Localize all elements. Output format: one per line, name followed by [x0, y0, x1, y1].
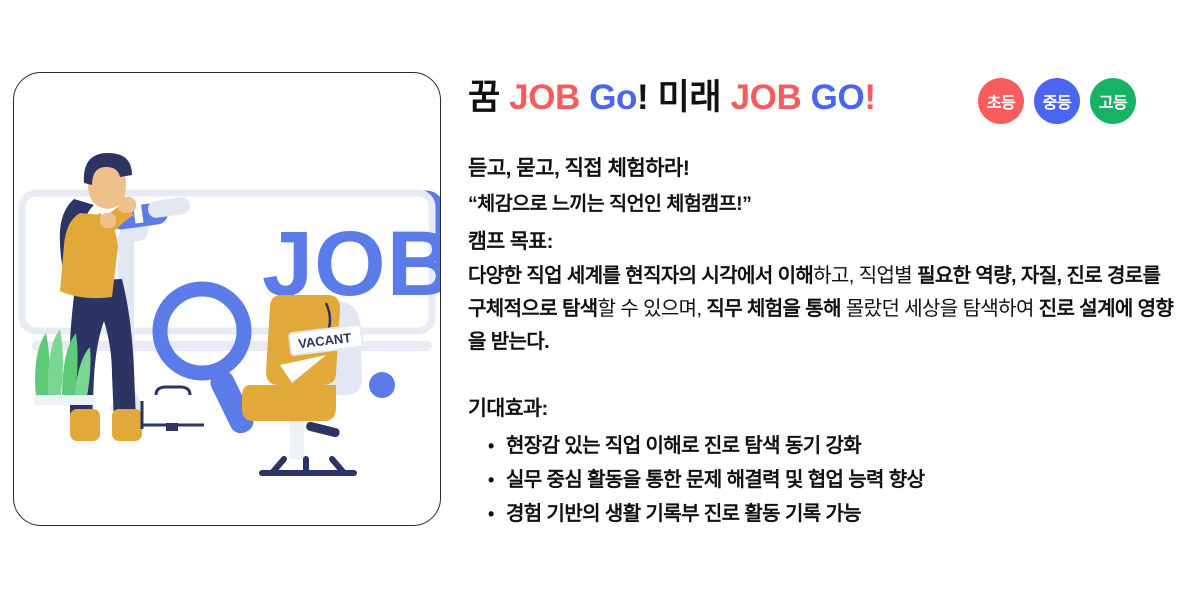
goal-heading: 캠프 목표:	[468, 226, 1180, 258]
title-segment-5: JOB	[731, 78, 811, 117]
grade-badge-group: 초등 중등 고등	[978, 78, 1136, 124]
title-segment-4: 미래	[658, 78, 731, 117]
goal-segment-5: 몰랐던 세상을 탐색하여	[841, 298, 1039, 320]
program-card: JOB	[0, 0, 1200, 600]
job-search-illustration: JOB	[14, 73, 440, 525]
title-segment-2: Go	[589, 78, 637, 117]
grade-badge-high[interactable]: 고등	[1090, 78, 1136, 124]
content-column: 꿈 JOB Go! 미래 JOB GO! 초등 중등 고등 듣고, 묻고, 직접…	[468, 74, 1180, 531]
boot-left	[70, 409, 100, 441]
desk-outline	[142, 387, 204, 431]
decorative-dot	[369, 372, 395, 398]
boot-right	[112, 409, 142, 441]
title-row: 꿈 JOB Go! 미래 JOB GO! 초등 중등 고등	[468, 74, 1180, 130]
grade-badge-middle[interactable]: 중등	[1034, 78, 1080, 124]
goal-segment-4: 직무 체험을 통해	[706, 298, 841, 320]
grade-badge-elementary[interactable]: 초등	[978, 78, 1024, 124]
quote-text: “체감으로 느끼는 직언인 체험캠프!”	[468, 188, 1180, 220]
lead-text: 듣고, 묻고, 직접 체험하라!	[468, 152, 1180, 186]
title-segment-0: 꿈	[468, 78, 509, 117]
goal-segment-1: 하고, 직업별	[813, 265, 917, 287]
grade-badge-elementary-label: 초등	[987, 89, 1015, 113]
grade-badge-high-label: 고등	[1099, 89, 1127, 113]
goal-segment-3: 할 수 있으며,	[598, 298, 707, 320]
goal-body: 다양한 직업 세계를 현직자의 시각에서 이해하고, 직업별 필요한 역량, 자…	[468, 260, 1180, 359]
title-segment-1: JOB	[509, 78, 589, 117]
title-segment-6: GO	[811, 78, 865, 117]
illustration-card: JOB	[13, 72, 441, 526]
title-segment-3: !	[637, 78, 658, 117]
list-item: 현장감 있는 직업 이해로 진로 탐색 동기 강화	[488, 429, 1180, 463]
list-item: 실무 중심 활동을 통한 문제 해결력 및 협업 능력 향상	[488, 463, 1180, 497]
title-segment-7: !	[864, 78, 875, 117]
effect-list: 현장감 있는 직업 이해로 진로 탐색 동기 강화 실무 중심 활동을 통한 문…	[468, 429, 1180, 531]
list-item: 경험 기반의 생활 기록부 진로 활동 기록 가능	[488, 497, 1180, 531]
grade-badge-middle-label: 중등	[1043, 89, 1071, 113]
goal-segment-0: 다양한 직업 세계를 현직자의 시각에서 이해	[468, 265, 813, 287]
effect-heading: 기대효과:	[468, 393, 1180, 425]
